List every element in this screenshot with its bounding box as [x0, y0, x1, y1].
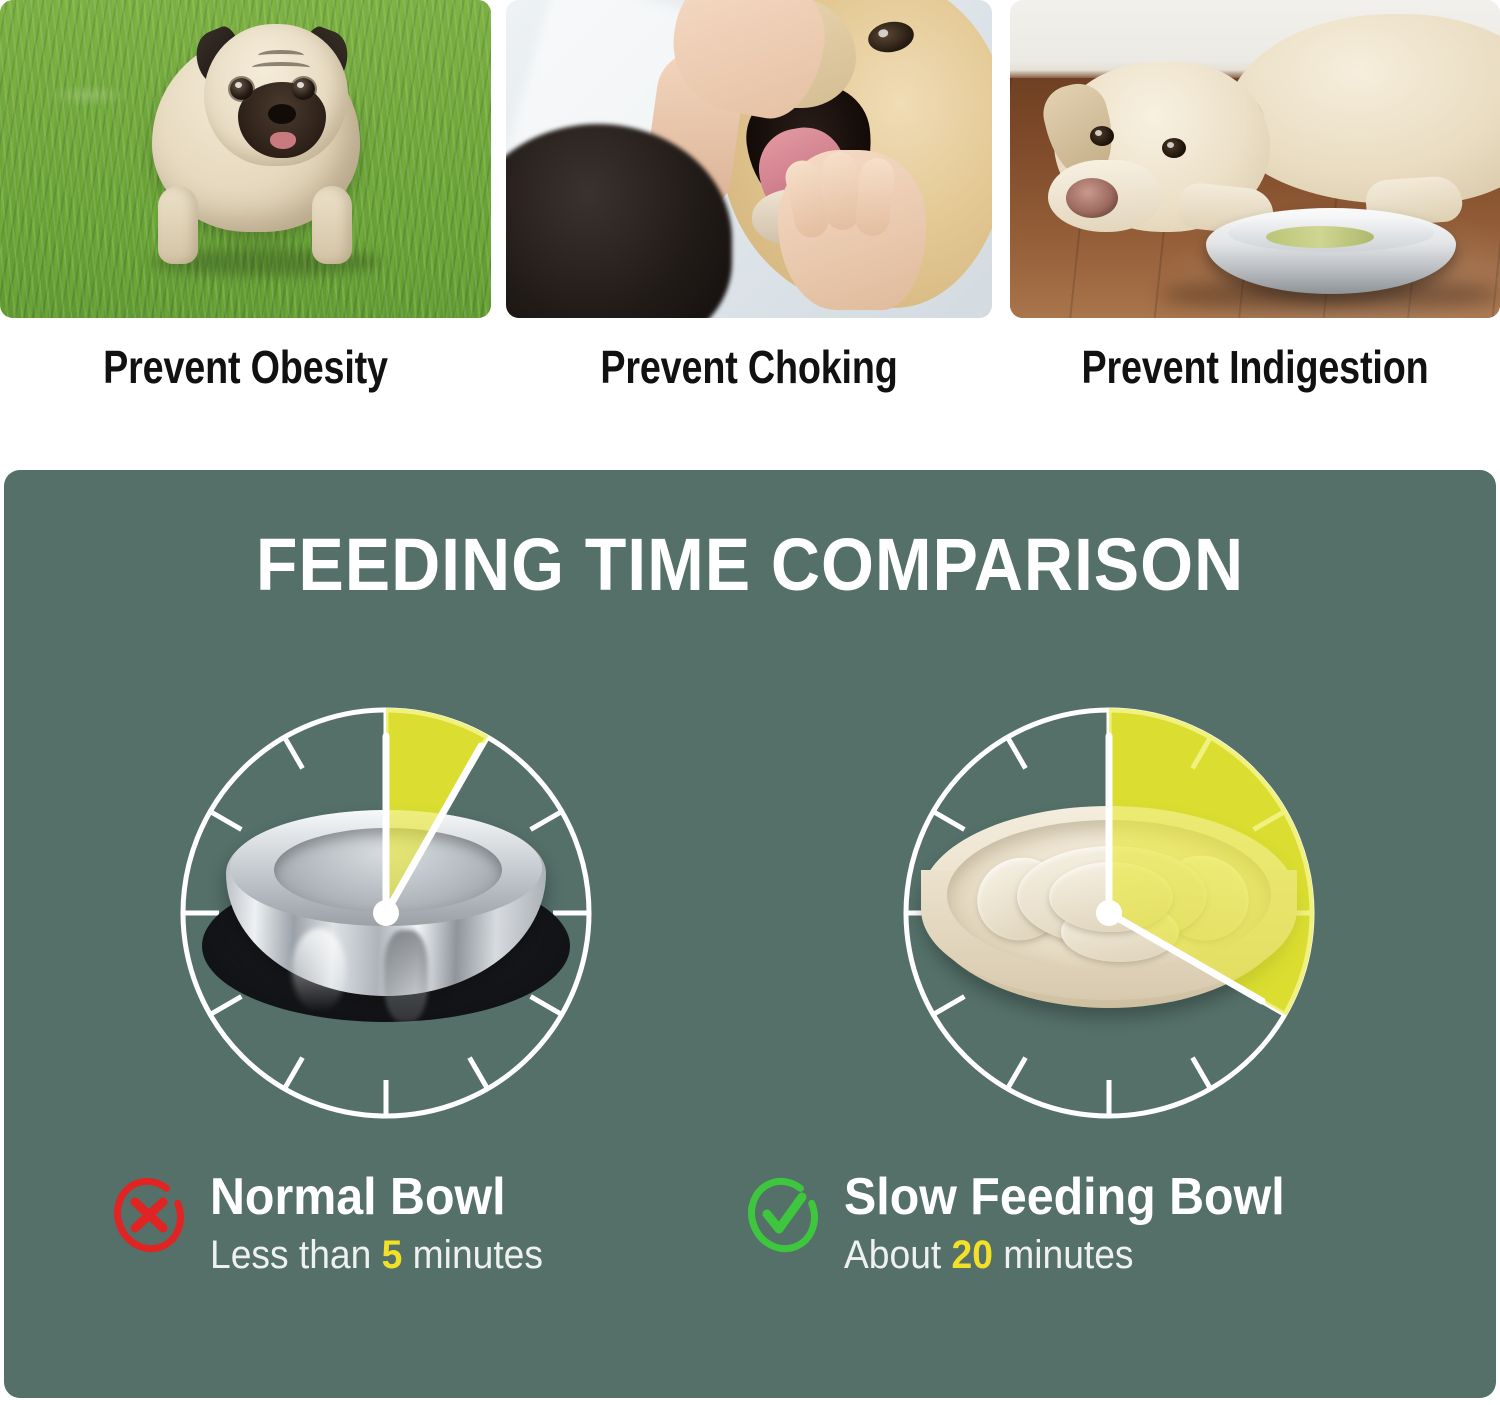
pug-front-left-leg — [158, 186, 198, 264]
benefit-photo-strip — [0, 0, 1500, 318]
clock-slow-feeding-bowl — [899, 688, 1319, 1140]
label-slow-sub-value: 20 — [952, 1233, 993, 1277]
panel-title: FEEDING TIME COMPARISON — [64, 522, 1437, 607]
label-slow-sub: About 20 minutes — [844, 1231, 1285, 1279]
label-slow-sub-suffix: minutes — [993, 1233, 1134, 1277]
label-normal-sub-prefix: Less than — [210, 1233, 382, 1277]
label-normal-text: Normal Bowl Less than 5 minutes — [210, 1170, 568, 1279]
label-normal-sub-suffix: minutes — [402, 1233, 543, 1277]
label-slow-text: Slow Feeding Bowl About 20 minutes — [844, 1170, 1318, 1279]
clock-dial-normal-front — [176, 688, 596, 1140]
labrador-eye-left — [1090, 126, 1114, 146]
pug-front-right-leg — [312, 186, 352, 264]
clock-normal-bowl — [176, 688, 596, 1140]
infographic-page: Prevent Obesity Prevent Choking Prevent … — [0, 0, 1500, 1405]
label-normal-title: Normal Bowl — [210, 1170, 543, 1225]
label-slow-sub-prefix: About — [844, 1233, 952, 1277]
clock-hub-normal — [373, 900, 399, 926]
label-slow-title: Slow Feeding Bowl — [844, 1170, 1285, 1225]
caption-prevent-obesity: Prevent Obesity — [44, 340, 447, 394]
label-normal-sub-value: 5 — [382, 1233, 403, 1277]
clock-hub-slow — [1096, 900, 1122, 926]
label-normal-sub: Less than 5 minutes — [210, 1231, 543, 1279]
label-normal-bowl: Normal Bowl Less than 5 minutes — [110, 1170, 568, 1279]
comparison-labels: Normal Bowl Less than 5 minutes Slow Fee… — [4, 1170, 1496, 1320]
pug-forehead-wrinkle — [252, 62, 310, 73]
bowl-food — [1266, 226, 1374, 248]
clinic-background — [506, 0, 992, 318]
caption-prevent-choking: Prevent Choking — [550, 340, 949, 394]
check-icon — [744, 1176, 822, 1254]
labrador-nose — [1066, 178, 1118, 218]
grass-background — [0, 0, 491, 318]
comparison-panel: FEEDING TIME COMPARISON — [4, 470, 1496, 1398]
pug-left-eye — [230, 78, 253, 100]
label-slow-feeding-bowl: Slow Feeding Bowl About 20 minutes — [744, 1170, 1318, 1279]
labrador-eye-right — [1162, 138, 1186, 158]
cross-icon — [110, 1176, 188, 1254]
pug-tongue — [270, 132, 296, 149]
photo-prevent-choking — [506, 0, 992, 318]
kitchen-background — [1010, 0, 1500, 318]
clock-dial-slow-front — [899, 688, 1319, 1140]
caption-prevent-indigestion: Prevent Indigestion — [1054, 340, 1456, 394]
photo-prevent-indigestion — [1010, 0, 1500, 318]
photo-prevent-obesity — [0, 0, 491, 318]
pug-nose — [268, 104, 296, 124]
pug-forehead-wrinkle-upper — [258, 50, 304, 61]
pug-right-eye — [292, 78, 315, 100]
benefit-captions: Prevent Obesity Prevent Choking Prevent … — [0, 340, 1500, 450]
